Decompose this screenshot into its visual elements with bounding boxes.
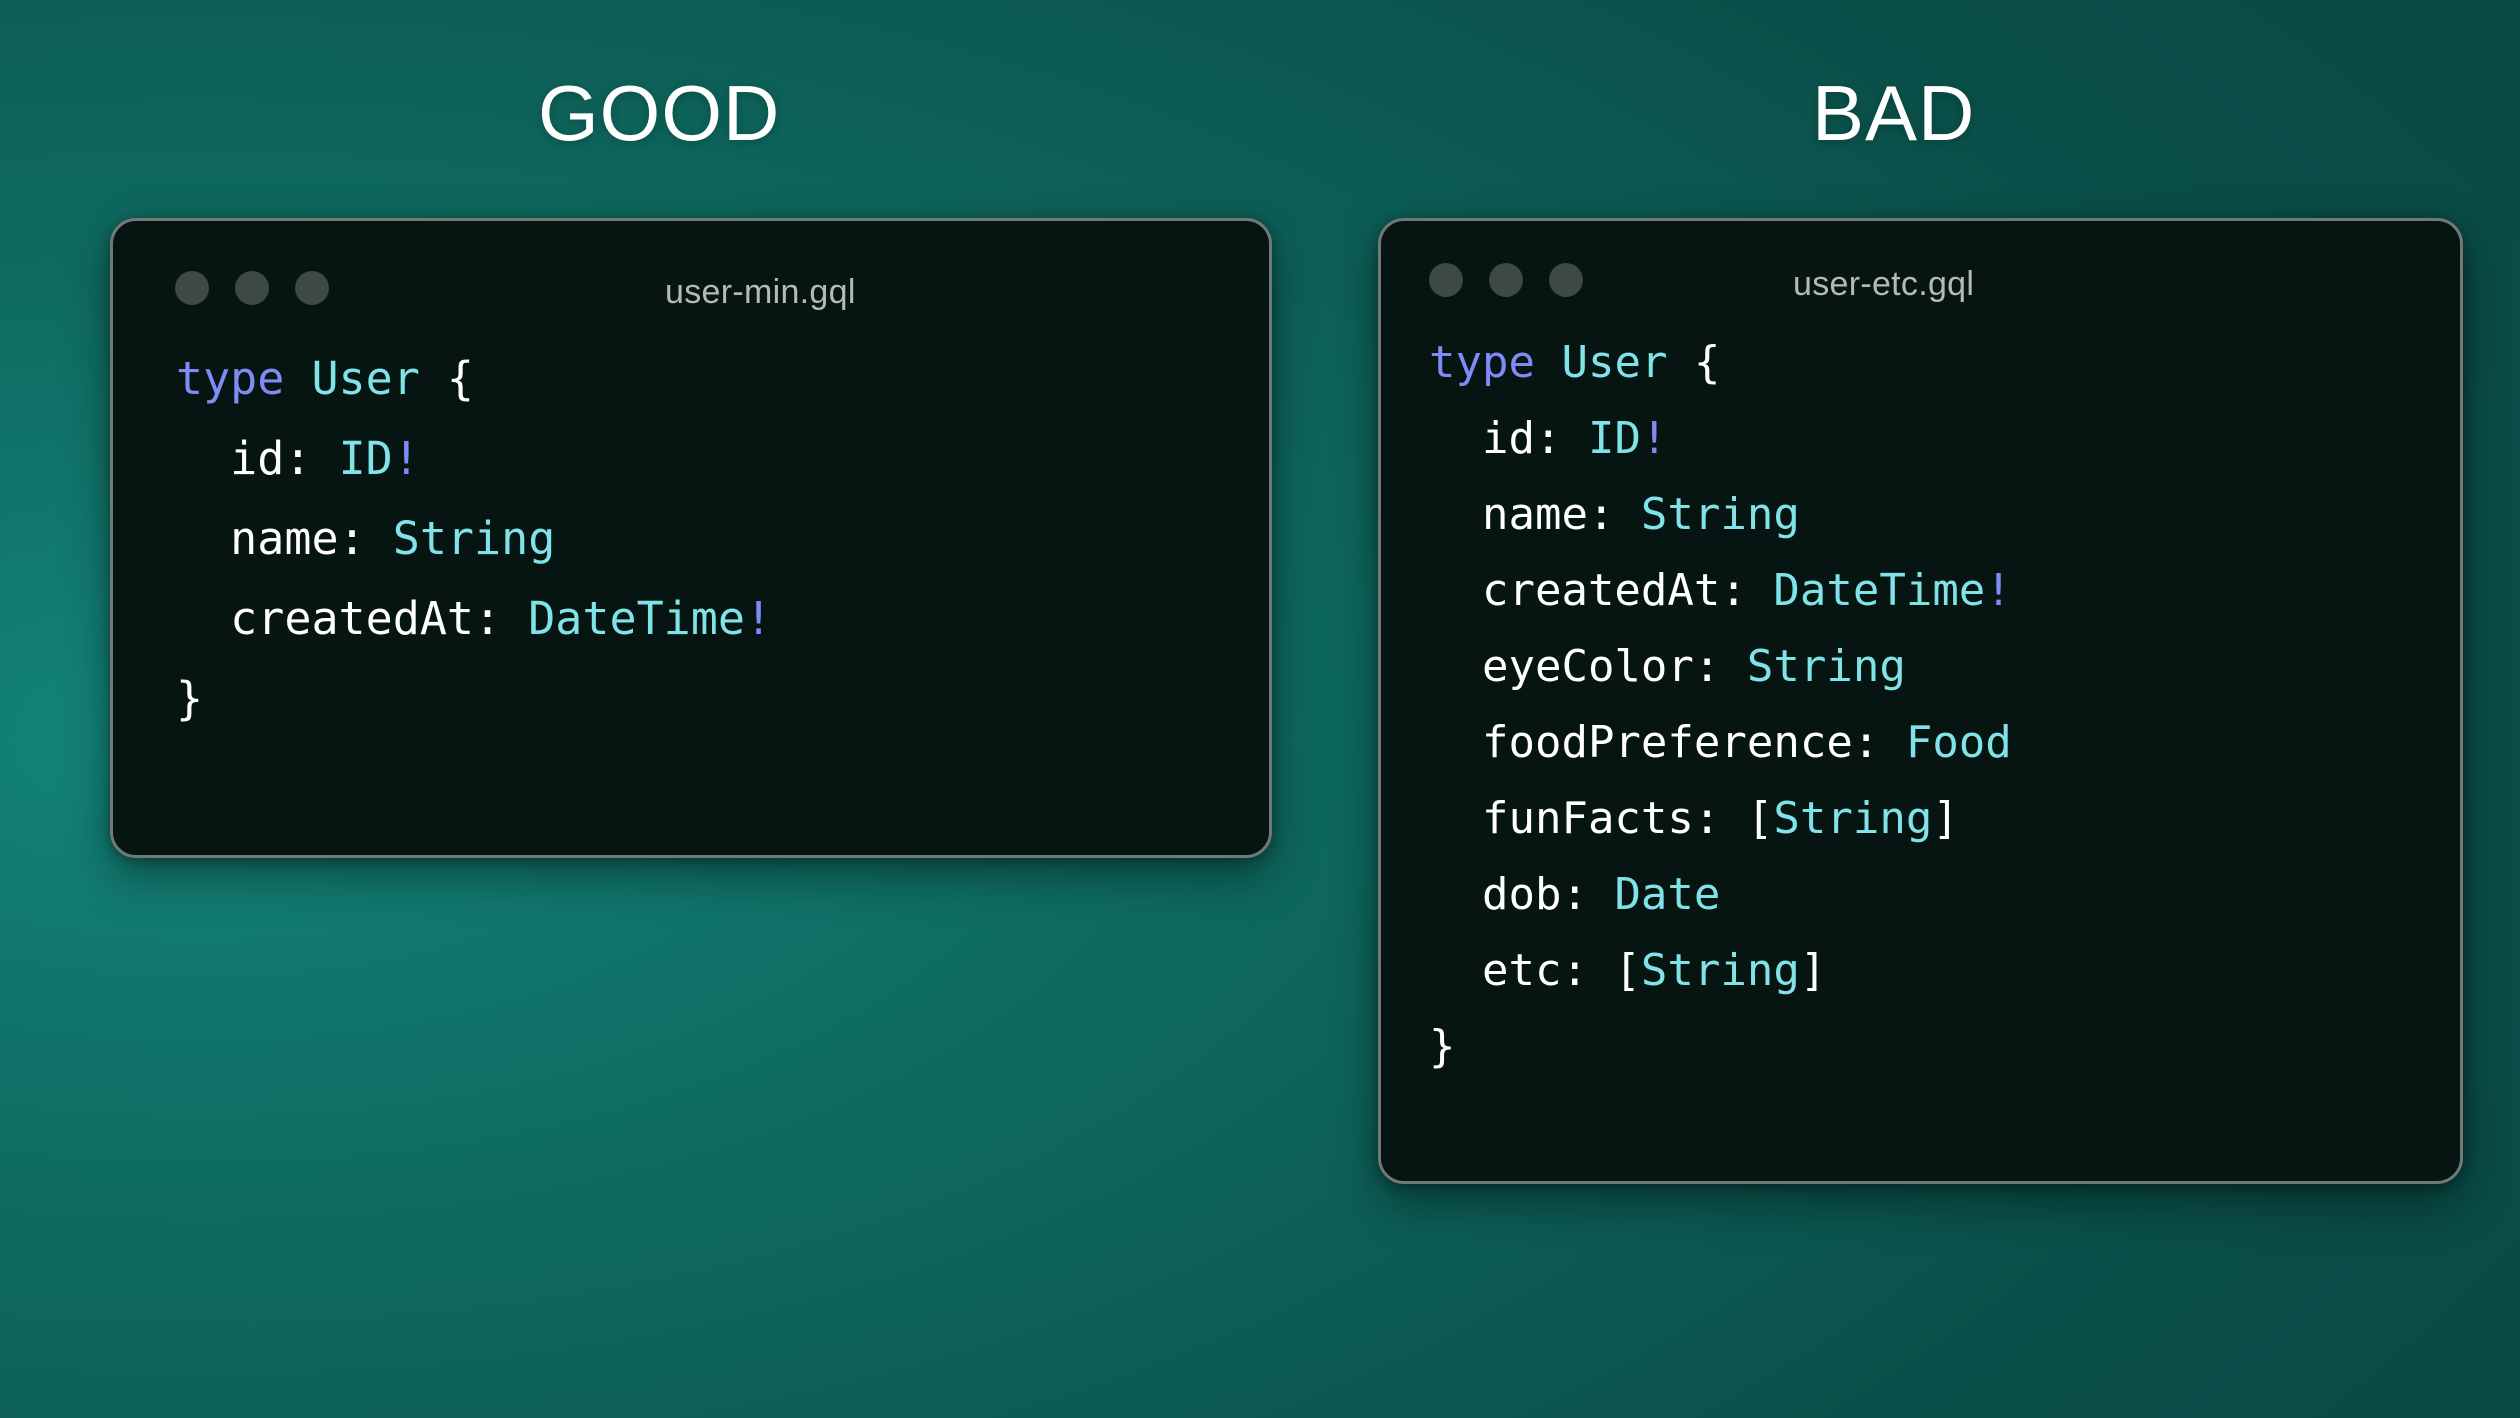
code-block-bad: type User { id: ID! name: String created… — [1381, 325, 2460, 1085]
code-token: String — [393, 512, 556, 565]
code-token: String — [1641, 945, 1800, 996]
code-token: ] — [1932, 793, 1959, 844]
code-token: String — [1641, 489, 1800, 540]
code-token: Food — [1906, 717, 2012, 768]
code-window-bad: user-etc.gql type User { id: ID! name: S… — [1378, 218, 2463, 1184]
window-controls-good — [175, 271, 329, 305]
minimize-dot-icon[interactable] — [235, 271, 269, 305]
close-dot-icon[interactable] — [1429, 263, 1463, 297]
code-token: createdAt: — [176, 592, 528, 645]
code-token: ] — [1800, 945, 1827, 996]
code-token: { — [420, 352, 474, 405]
code-line: dob: Date — [1429, 857, 2460, 933]
code-token: } — [1429, 1021, 1456, 1072]
bad-heading: BAD — [1812, 74, 1975, 152]
maximize-dot-icon[interactable] — [1549, 263, 1583, 297]
code-line: name: String — [176, 499, 1269, 579]
code-token: ! — [1985, 565, 2012, 616]
code-token: ! — [1641, 413, 1668, 464]
code-token: ! — [393, 432, 420, 485]
code-line: eyeColor: String — [1429, 629, 2460, 705]
code-token: String — [1747, 641, 1906, 692]
code-token: name: — [1429, 489, 1641, 540]
code-token: createdAt: — [1429, 565, 1773, 616]
code-token: type — [176, 352, 284, 405]
code-token: } — [176, 672, 203, 725]
code-token — [1535, 337, 1562, 388]
code-token: eyeColor: — [1429, 641, 1747, 692]
code-token: foodPreference: — [1429, 717, 1906, 768]
code-token: String — [1773, 793, 1932, 844]
code-token: type — [1429, 337, 1535, 388]
comparison-slide: GOOD BAD user-min.gql type User { id: ID… — [0, 0, 2520, 1418]
maximize-dot-icon[interactable] — [295, 271, 329, 305]
code-token: ID — [339, 432, 393, 485]
code-line: foodPreference: Food — [1429, 705, 2460, 781]
code-token: DateTime — [1773, 565, 1985, 616]
code-line: } — [1429, 1009, 2460, 1085]
code-token — [284, 352, 311, 405]
code-token: ID — [1588, 413, 1641, 464]
code-line: type User { — [1429, 325, 2460, 401]
window-titlebar-bad: user-etc.gql — [1381, 221, 2460, 325]
good-heading: GOOD — [538, 74, 780, 152]
code-token: funFacts: [ — [1429, 793, 1773, 844]
code-line: } — [176, 659, 1269, 739]
window-filename-bad: user-etc.gql — [1793, 265, 1974, 304]
code-token: id: — [176, 432, 339, 485]
code-line: etc: [String] — [1429, 933, 2460, 1009]
code-line: type User { — [176, 339, 1269, 419]
code-token: User — [311, 352, 419, 405]
code-token: name: — [176, 512, 393, 565]
code-token: { — [1667, 337, 1720, 388]
window-titlebar-good: user-min.gql — [113, 221, 1269, 339]
code-token: etc: [ — [1429, 945, 1641, 996]
code-token: Date — [1614, 869, 1720, 920]
code-line: id: ID! — [1429, 401, 2460, 477]
minimize-dot-icon[interactable] — [1489, 263, 1523, 297]
code-window-good: user-min.gql type User { id: ID! name: S… — [110, 218, 1272, 858]
code-line: funFacts: [String] — [1429, 781, 2460, 857]
code-token: dob: — [1429, 869, 1614, 920]
window-controls-bad — [1429, 263, 1583, 297]
code-line: createdAt: DateTime! — [176, 579, 1269, 659]
code-token: id: — [1429, 413, 1588, 464]
code-block-good: type User { id: ID! name: String created… — [113, 339, 1269, 739]
code-token: DateTime — [528, 592, 745, 645]
close-dot-icon[interactable] — [175, 271, 209, 305]
code-line: id: ID! — [176, 419, 1269, 499]
code-token: User — [1561, 337, 1667, 388]
code-line: createdAt: DateTime! — [1429, 553, 2460, 629]
code-line: name: String — [1429, 477, 2460, 553]
code-token: ! — [745, 592, 772, 645]
window-filename-good: user-min.gql — [665, 273, 856, 312]
